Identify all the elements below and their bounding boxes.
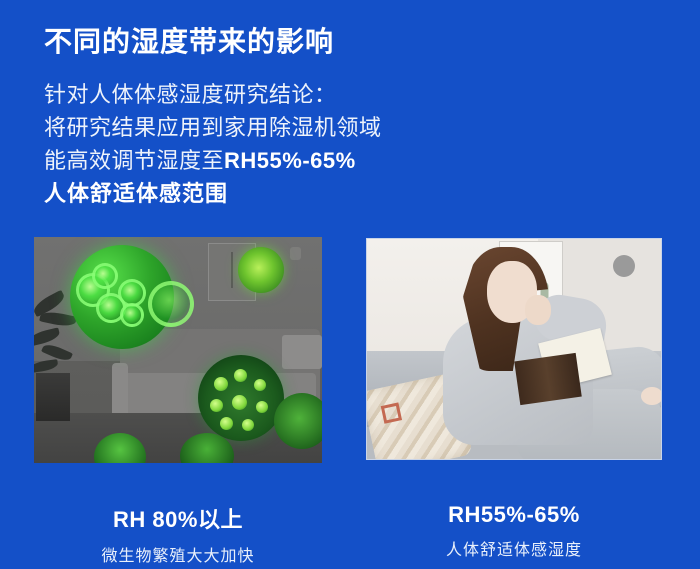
germ-right-edge <box>274 393 322 449</box>
page-title: 不同的湿度带来的影响 <box>44 20 334 60</box>
caption-title: RH55%-65% <box>366 502 662 528</box>
body-line-4: 人体舒适体感范围 <box>44 177 382 210</box>
person-foot <box>641 387 662 405</box>
plant-leaf <box>34 327 61 346</box>
germ-spike <box>214 377 228 391</box>
book-cover <box>514 353 582 405</box>
germ-small-bright <box>238 247 284 293</box>
photo-comfort-humidity <box>366 238 662 460</box>
plant-pot <box>36 373 70 421</box>
body-line-1: 针对人体体感湿度研究结论： <box>44 78 382 111</box>
dark-room-scene <box>34 237 322 463</box>
person-hand <box>525 295 551 325</box>
photo-high-humidity <box>34 237 322 463</box>
caption-title: RH 80%以上 <box>34 502 322 534</box>
germ-spike <box>254 379 266 391</box>
germ-blob <box>120 303 144 327</box>
plant-leaf <box>39 309 77 328</box>
germ-virus-large <box>198 355 284 441</box>
sofa-cushion <box>282 335 322 369</box>
caption-subtitle: 微生物繁殖大大加快 <box>34 542 322 566</box>
poster-root: 不同的湿度带来的影响 针对人体体感湿度研究结论： 将研究结果应用到家用除湿机领域… <box>0 0 700 569</box>
bright-room-scene <box>367 239 661 459</box>
wall-knob <box>290 247 301 260</box>
body-line-2: 将研究结果应用到家用除湿机领域 <box>44 111 382 144</box>
caption-subtitle: 人体舒适体感湿度 <box>366 536 662 560</box>
body-line-3: 能高效调节湿度至RH55%-65% <box>44 144 382 177</box>
germ-spike <box>210 399 223 412</box>
germ-spike <box>220 417 233 430</box>
germ-spike <box>232 395 247 410</box>
germ-spike <box>256 401 268 413</box>
germ-ring <box>148 281 194 327</box>
caption-high-humidity: RH 80%以上 微生物繁殖大大加快 <box>34 502 322 566</box>
body-copy: 针对人体体感湿度研究结论： 将研究结果应用到家用除湿机领域 能高效调节湿度至RH… <box>44 78 382 210</box>
plant-leaf <box>34 359 59 373</box>
germ-blob <box>92 263 118 289</box>
wall-speaker <box>613 255 635 277</box>
caption-comfort-humidity: RH55%-65% 人体舒适体感湿度 <box>366 502 662 560</box>
germ-spike <box>242 419 254 431</box>
body-line-3-normal: 能高效调节湿度至 <box>44 148 224 173</box>
germ-spike <box>234 369 247 382</box>
body-line-3-highlight: RH55%-65% <box>224 148 356 173</box>
